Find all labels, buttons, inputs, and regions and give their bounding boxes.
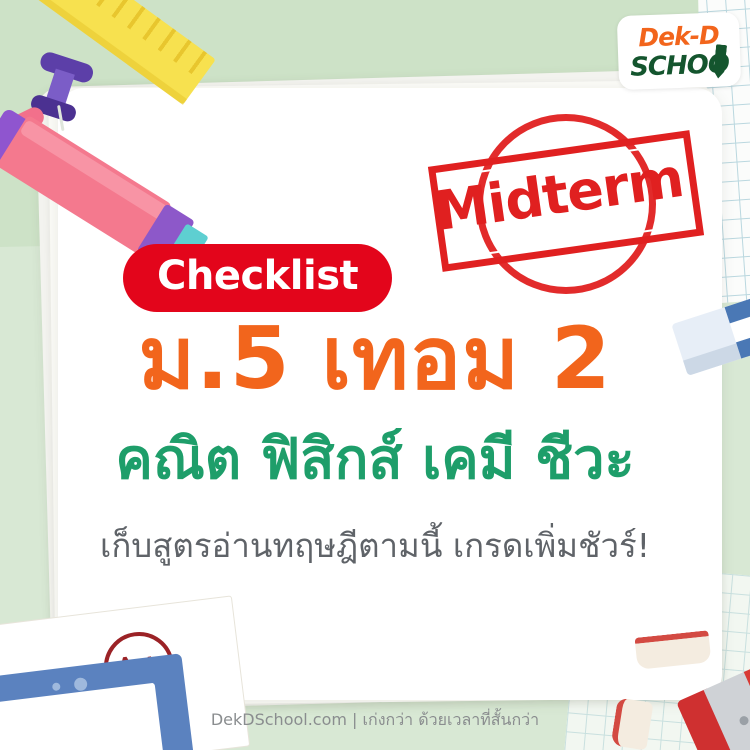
checklist-badge: Checklist: [123, 244, 392, 312]
footer-credit: DekDSchool.com | เก่งกว่า ด้วยเวลาที่สั้…: [0, 708, 750, 733]
poster-content: Checklist ม.5 เทอม 2 คณิต ฟิสิกส์ เคมี ช…: [0, 0, 750, 750]
subjects-line: คณิต ฟิสิกส์ เคมี ชีวะ: [0, 432, 750, 488]
tagline-text: เก็บสูตรอ่านทฤษฎีตามนี้ เกรดเพิ่มชัวร์!: [0, 526, 750, 566]
page-title: ม.5 เทอม 2: [0, 316, 750, 402]
poster-canvas: A+: [0, 0, 750, 750]
